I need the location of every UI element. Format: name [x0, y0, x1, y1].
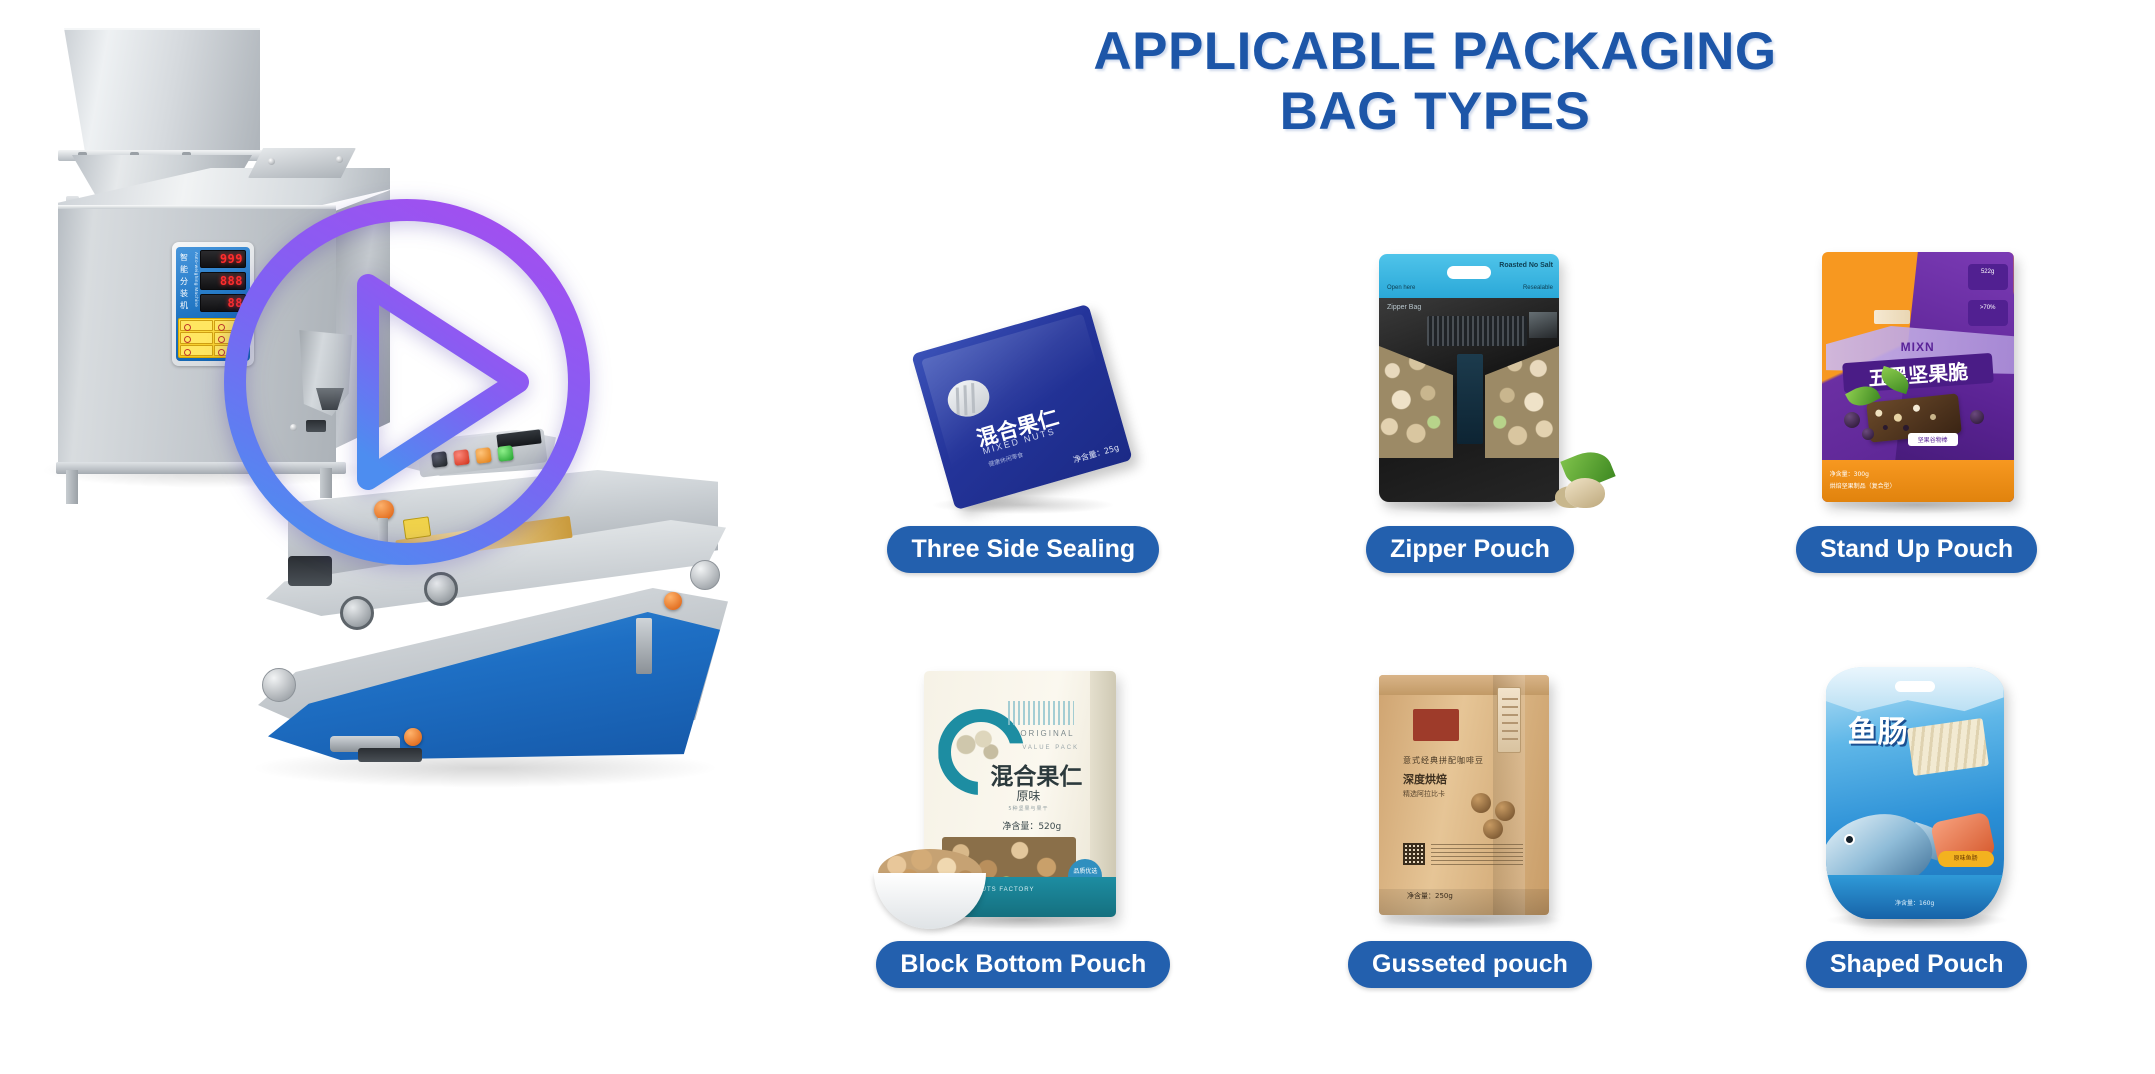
gusseted-pouch-bag: 意式经典拼配咖啡豆 深度烘焙 精选阿拉比卡 净含量：250g	[1379, 675, 1549, 915]
qr-code-icon	[1403, 843, 1425, 865]
berry-icon	[1844, 412, 1860, 428]
pistachio-nut	[1565, 478, 1605, 508]
bag-weight: 净含量：160g	[1895, 898, 1934, 907]
bag-weight: 净含量：300g	[1830, 469, 1869, 478]
belt-gear	[424, 572, 458, 606]
bag-card-stand-up-pouch[interactable]: MIXN 五黑坚果脆 522g >70%	[1693, 158, 2140, 573]
content-panel: APPLICABLE PACKAGING BAG TYPES 混合果仁 MIXE…	[790, 0, 2155, 1074]
sealer-foot-pad	[358, 748, 422, 762]
belt-gear	[340, 596, 374, 630]
bag-body-label: Zipper Bag	[1387, 304, 1421, 311]
plate-screw	[336, 156, 343, 163]
play-triangle-icon	[368, 285, 518, 479]
bag-bottom-fold	[1379, 889, 1549, 915]
keypad-key[interactable]	[180, 320, 213, 331]
stand-up-pouch-bag: MIXN 五黑坚果脆 522g >70%	[1822, 252, 2014, 502]
bag-cn-line3: 精选阿拉比卡	[1403, 789, 1445, 799]
play-button[interactable]	[218, 193, 596, 571]
bag-brand: MIXN	[1901, 340, 1935, 354]
bag-label-zipper-pouch[interactable]: Zipper Pouch	[1366, 526, 1574, 573]
bag-label-shaped-pouch[interactable]: Shaped Pouch	[1806, 941, 2028, 988]
belt-roller	[262, 668, 296, 702]
bag-card-block-bottom-pouch[interactable]: ORIGINAL VALUE PACK 混合果仁 原味 5种坚果与果干 净含量：…	[800, 573, 1247, 988]
bag-type-grid: 混合果仁 MIXED NUTS 健康休闲零食 净含量：25g Three Sid…	[800, 158, 2140, 988]
plate-screw	[268, 158, 275, 165]
machine-photo: 智能分装机 Auto-weighing Machine Set Weight 9…	[0, 0, 790, 1074]
bag-label-three-side-sealing[interactable]: Three Side Sealing	[887, 526, 1159, 573]
hang-hole	[1447, 266, 1491, 279]
bag-flavor-cn: 原味	[1016, 787, 1040, 804]
bag-subtitle-cn: 烘焙坚果制品（复合型）	[1830, 481, 1896, 490]
bag-bottom-band	[1826, 875, 2004, 919]
poster-canvas: 智能分装机 Auto-weighing Machine Set Weight 9…	[0, 0, 2155, 1074]
coffee-bean-icon	[1495, 801, 1515, 821]
bag-card-gusseted-pouch[interactable]: 意式经典拼配咖啡豆 深度烘焙 精选阿拉比卡 净含量：250g Gusseted …	[1247, 573, 1694, 988]
three-side-seal-bag: 混合果仁 MIXED NUTS 健康休闲零食 净含量：25g	[912, 304, 1134, 510]
coffee-bean-icon	[1483, 819, 1503, 839]
tension-knob[interactable]	[664, 592, 682, 610]
bag-red-label	[1413, 709, 1459, 741]
bag-cn-line1: 意式经典拼配咖啡豆	[1403, 755, 1484, 766]
bag-image-stand-up-pouch: MIXN 五黑坚果脆 522g >70%	[1792, 225, 2042, 510]
belt-knob[interactable]	[404, 728, 422, 746]
berry-icon	[1970, 410, 1984, 424]
bag-label-stand-up-pouch[interactable]: Stand Up Pouch	[1796, 526, 2037, 573]
fish-eye	[1844, 834, 1855, 845]
bag-image-gusseted-pouch: 意式经典拼配咖啡豆 深度烘焙 精选阿拉比卡 净含量：250g	[1345, 640, 1595, 925]
bag-badge-weight: 522g	[1968, 264, 2008, 290]
bag-text-resealable: Resealable	[1523, 285, 1553, 291]
bag-weight: 净含量：520g	[1002, 819, 1061, 832]
bag-chip-label: 原味鱼肠	[1938, 851, 1994, 867]
machine-top-plate	[248, 148, 356, 178]
hang-hole	[1895, 681, 1935, 692]
bag-card-zipper-pouch[interactable]: Roasted No Salt Resealable Open here Zip…	[1247, 158, 1694, 573]
bag-en-value-pack: VALUE PACK	[1022, 745, 1079, 751]
bag-image-block-bottom-pouch: ORIGINAL VALUE PACK 混合果仁 原味 5种坚果与果干 净含量：…	[898, 640, 1148, 925]
bag-name-cn: 鱼肠	[1848, 719, 1908, 747]
bag-window	[944, 375, 994, 421]
degassing-valve-strip	[1497, 687, 1521, 753]
bag-label-gusseted-pouch[interactable]: Gusseted pouch	[1348, 941, 1592, 988]
keypad-key[interactable]	[180, 345, 213, 356]
bag-card-shaped-pouch[interactable]: 鱼肠 原味鱼肠 净含量：160g Shaped Pouch	[1693, 573, 2140, 988]
coffee-bean-icon	[1471, 793, 1491, 813]
page-title: APPLICABLE PACKAGING BAG TYPES	[790, 22, 2080, 142]
bag-center-strip	[1457, 354, 1483, 444]
machine-leg	[66, 470, 78, 504]
fish-sausage-art	[1907, 718, 1989, 776]
bag-text-open-here: Open here	[1387, 285, 1415, 291]
keypad-key[interactable]	[180, 332, 213, 343]
bag-info-block	[1431, 843, 1523, 865]
belt-roller	[690, 560, 720, 590]
shaped-pouch-bag: 鱼肠 原味鱼肠 净含量：160g	[1826, 667, 2004, 919]
bag-cn-line2: 深度烘焙	[1403, 771, 1447, 787]
hopper-funnel	[60, 28, 260, 158]
bag-clear-window	[1529, 312, 1557, 338]
bag-chip-label: 坚果谷物棒	[1908, 433, 1958, 446]
bag-tiny-cn: 5种坚果与果干	[1008, 805, 1048, 812]
berry-icon	[1862, 428, 1874, 440]
bag-image-three-side-sealing: 混合果仁 MIXED NUTS 健康休闲零食 净含量：25g	[898, 225, 1148, 510]
zipper-pouch-bag: Roasted No Salt Resealable Open here Zip…	[1379, 254, 1559, 502]
bag-line-pattern	[1008, 701, 1074, 725]
sealer-foot	[636, 618, 652, 674]
tear-notch	[1874, 310, 1910, 324]
bag-weight: 净含量：25g	[1072, 442, 1120, 466]
title-line-1: APPLICABLE PACKAGING	[1093, 22, 1776, 81]
bag-text-top-right: Roasted No Salt	[1499, 262, 1553, 269]
bag-card-three-side-sealing[interactable]: 混合果仁 MIXED NUTS 健康休闲零食 净含量：25g Three Sid…	[800, 158, 1247, 573]
title-line-2: BAG TYPES	[790, 82, 2080, 142]
bag-en-original: ORIGINAL	[1020, 729, 1074, 738]
bag-image-shaped-pouch: 鱼肠 原味鱼肠 净含量：160g	[1792, 640, 2042, 925]
bag-badge-percent: >70%	[1968, 300, 2008, 326]
bag-label-block-bottom-pouch[interactable]: Block Bottom Pouch	[876, 941, 1170, 988]
zipper-strip-icon	[1427, 316, 1527, 346]
bag-name-cn: 混合果仁	[990, 757, 1082, 791]
bag-image-zipper-pouch: Roasted No Salt Resealable Open here Zip…	[1345, 225, 1595, 510]
bag-seal-text: NUTS FACTORY	[976, 887, 1034, 893]
